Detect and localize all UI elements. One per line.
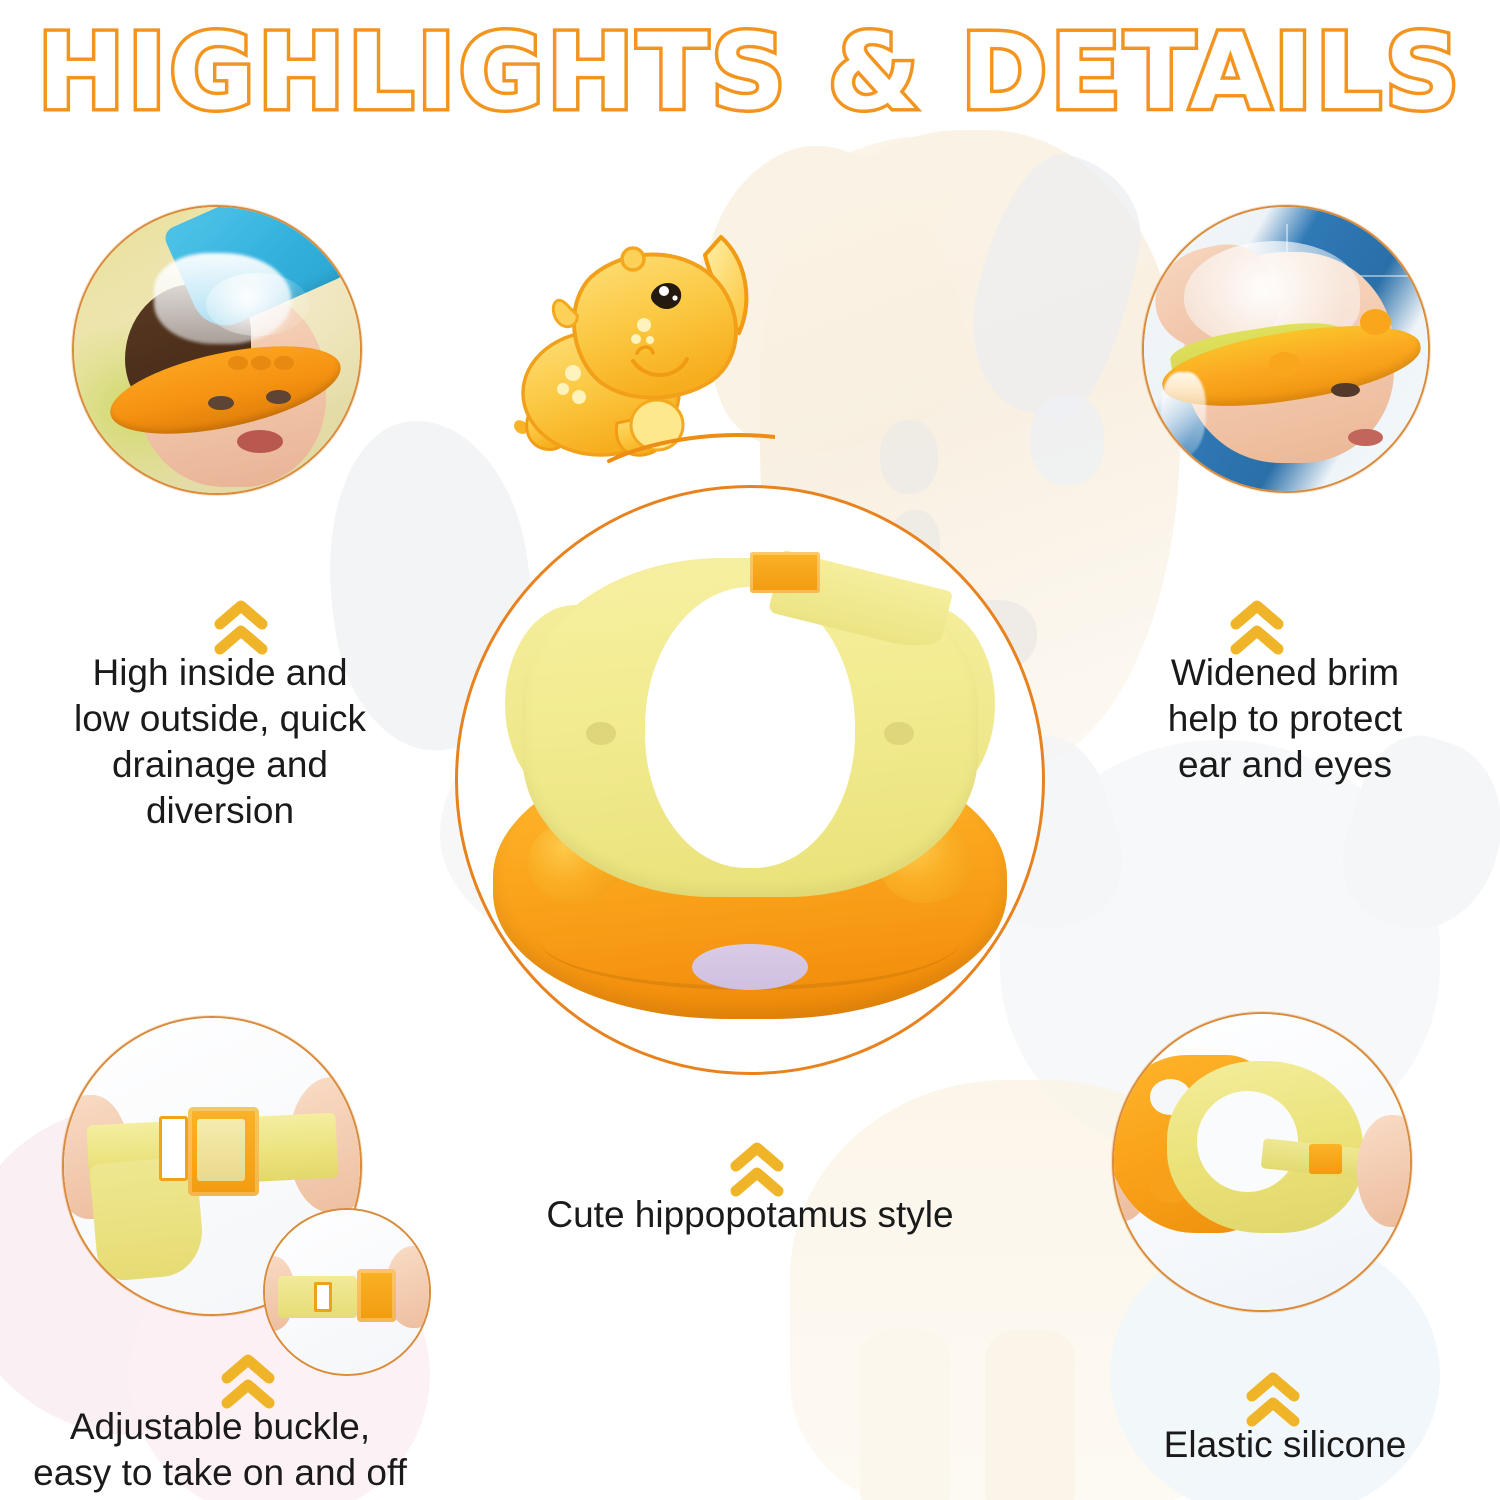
feature-photo-high-inside-low-outside [72, 205, 362, 495]
feature-label-elastic-silicone: Elastic silicone [1090, 1422, 1480, 1468]
orange-buckle [750, 552, 820, 593]
watermark-shape-grey-1 [955, 142, 1156, 428]
watermark-leg-right [985, 1330, 1075, 1500]
cap-nose-patch [692, 944, 809, 991]
feature-photo-widened-brim [1142, 205, 1430, 493]
page-title-container: HIGHLIGHTS & DETAILS [0, 18, 1500, 127]
cap-dimple [586, 722, 615, 745]
watermark-spot [1030, 395, 1104, 485]
feature-label-adjustable-buckle: Adjustable buckle, easy to take on and o… [10, 1404, 430, 1496]
cap-head-opening [645, 587, 855, 867]
strap-slot [314, 1282, 332, 1312]
infographic-canvas: HIGHLIGHTS & DETAILS [0, 0, 1500, 1500]
orange-buckle [1309, 1144, 1342, 1174]
cap-dimple [884, 722, 913, 745]
cartoon-rhino-mascot [505, 225, 775, 475]
feature-label-cute-hippopotamus-style: Cute hippopotamus style [440, 1192, 1060, 1238]
feature-label-high-inside-low-outside: High inside and low outside, quick drain… [20, 650, 420, 834]
watermark-leg-left [860, 1330, 950, 1500]
feature-photo-buckle-detached-inset [263, 1208, 431, 1376]
feature-label-widened-brim: Widened brim help to protect ear and eye… [1085, 650, 1485, 788]
visor-knob-right [1360, 309, 1391, 335]
water-stream [1161, 372, 1206, 457]
child-mouth [1348, 429, 1382, 446]
watermark-spot [880, 420, 938, 494]
baby-mouth [237, 430, 283, 453]
strap-slot [159, 1116, 189, 1181]
hero-product-image [455, 485, 1045, 1075]
buckle-insert [197, 1119, 244, 1181]
page-title: HIGHLIGHTS & DETAILS [37, 18, 1462, 127]
orange-buckle [357, 1269, 396, 1321]
feature-photo-elastic-silicone [1112, 1012, 1412, 1312]
water-splash [206, 273, 309, 336]
cap-bump [274, 356, 294, 370]
baby-eye-left [208, 396, 234, 410]
